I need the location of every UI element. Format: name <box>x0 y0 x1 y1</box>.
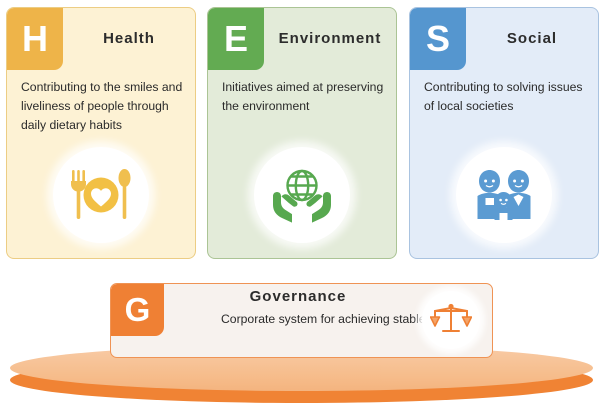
card-environment-description: Initiatives aimed at preserving the envi… <box>222 78 386 116</box>
card-governance[interactable]: G Governance Corporate system for achiev… <box>110 283 493 358</box>
balance-scales-icon <box>422 291 480 349</box>
globe-in-hands-icon <box>254 147 350 243</box>
card-health-header: H Health <box>7 8 195 70</box>
card-health[interactable]: H Health Contributing to the smiles and … <box>6 7 196 259</box>
card-social-header: S Social <box>410 8 598 70</box>
card-health-letter-badge: H <box>7 8 63 70</box>
card-social[interactable]: S Social Contributing to solving issues … <box>409 7 599 259</box>
card-health-description: Contributing to the smiles and livelines… <box>21 78 185 135</box>
family-group-icon <box>456 147 552 243</box>
card-environment-letter-badge: E <box>208 8 264 70</box>
card-social-description: Contributing to solving issues of local … <box>424 78 588 116</box>
card-health-title: Health <box>63 8 195 70</box>
card-environment[interactable]: E Environment Initiatives aimed at prese… <box>207 7 397 259</box>
card-environment-title: Environment <box>264 8 396 70</box>
card-governance-letter-badge: G <box>111 284 164 336</box>
card-social-letter-badge: S <box>410 8 466 70</box>
plate-heart-cutlery-icon <box>53 147 149 243</box>
card-governance-title: Governance <box>164 288 432 305</box>
esg-diagram: H Health Contributing to the smiles and … <box>0 0 603 417</box>
card-environment-header: E Environment <box>208 8 396 70</box>
card-social-title: Social <box>466 8 598 70</box>
